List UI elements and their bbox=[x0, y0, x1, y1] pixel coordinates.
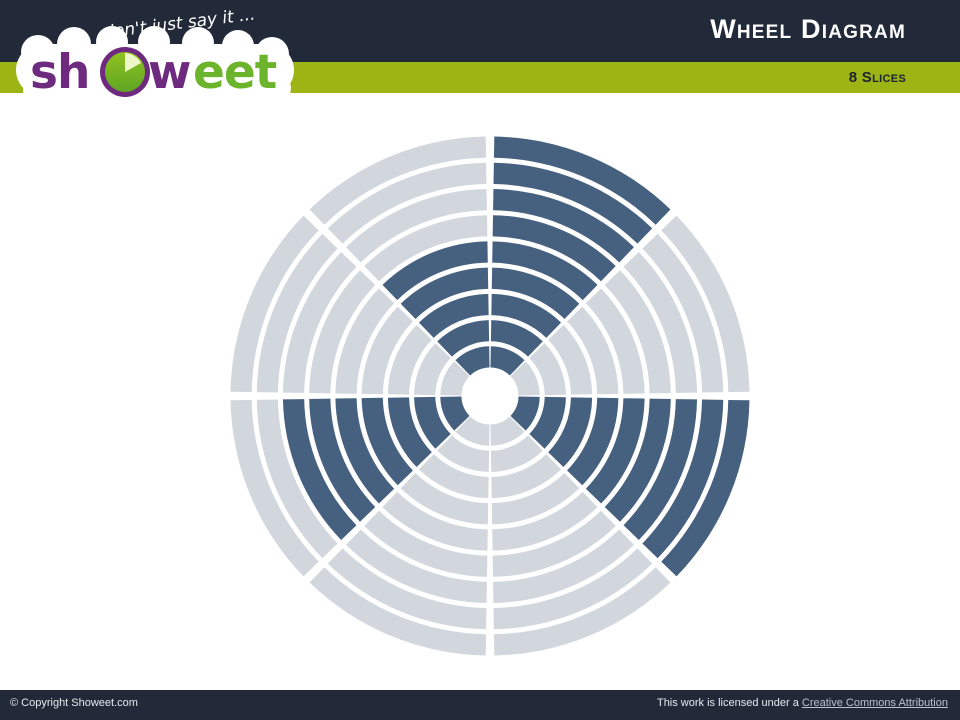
creative-commons-link[interactable]: Creative Commons Attribution bbox=[802, 697, 948, 709]
svg-text:w: w bbox=[148, 45, 190, 100]
license-text: This work is licensed under a Creative C… bbox=[657, 697, 948, 709]
slide-canvas: Wheel Diagram 8 Slices bbox=[0, 0, 960, 720]
license-prefix: This work is licensed under a bbox=[657, 697, 802, 709]
svg-text:sh: sh bbox=[30, 45, 89, 100]
wheel-center-hub[interactable] bbox=[465, 371, 515, 421]
svg-text:eet: eet bbox=[193, 45, 277, 100]
page-title: Wheel Diagram bbox=[710, 14, 906, 45]
copyright-text: © Copyright Showeet.com bbox=[10, 697, 138, 709]
showeet-logo[interactable]: don't just say it ... sh w eet bbox=[8, 2, 308, 106]
page-subtitle: 8 Slices bbox=[849, 69, 906, 86]
wheel-diagram[interactable] bbox=[180, 118, 800, 678]
